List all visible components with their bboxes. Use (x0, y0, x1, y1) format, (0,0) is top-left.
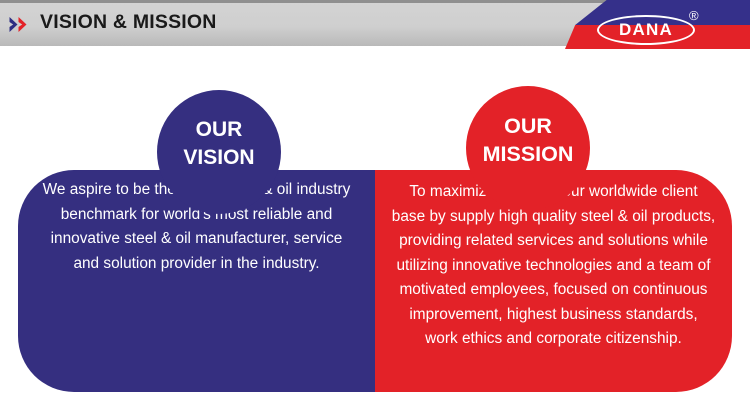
chevron-double-right-icon (9, 17, 35, 32)
our-mission-badge-line1: OUR (466, 112, 590, 140)
dana-logo[interactable]: DANA ® (597, 9, 707, 45)
registered-trademark-icon: ® (689, 9, 699, 22)
our-vision-badge: OUR VISION (157, 90, 281, 214)
chevron-right-red-icon (18, 17, 27, 32)
chevron-right-blue-icon (9, 17, 18, 32)
our-mission-badge-line2: MISSION (466, 140, 590, 168)
page-title: VISION & MISSION (40, 11, 217, 34)
dana-logo-text: DANA (597, 15, 695, 45)
our-vision-badge-line2: VISION (157, 144, 281, 172)
brand-banner: DANA ® (565, 0, 750, 49)
our-mission-badge: OUR MISSION (466, 86, 590, 210)
page-header: VISION & MISSION DANA ® (0, 0, 750, 52)
vision-mission-panels: We aspire to be the global steel & oil i… (18, 170, 732, 392)
header-top-rule (0, 0, 608, 3)
our-vision-badge-line1: OUR (157, 116, 281, 144)
mission-statement-text: To maximize value for our worldwide clie… (375, 180, 732, 352)
